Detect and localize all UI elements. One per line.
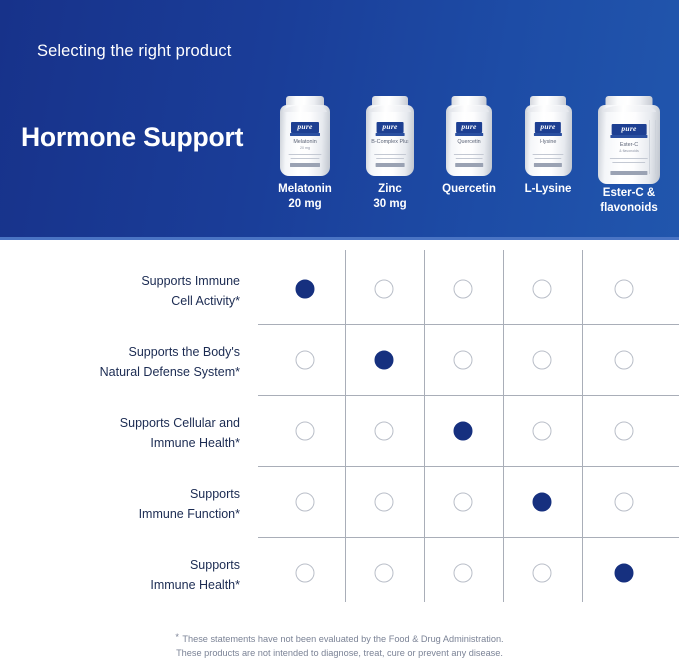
grid-horizontal-divider: [258, 395, 679, 396]
grid-vertical-divider: [424, 250, 425, 602]
brand-sublogo: [455, 133, 483, 136]
product-label-line1: Zinc: [378, 183, 402, 195]
product-label-line1: L-Lysine: [525, 183, 572, 195]
benefit-comparison-matrix: Supports Immune Cell Activity* Supports …: [0, 240, 679, 665]
bottle-side-panel: [649, 120, 656, 174]
brand-logo-zinc: pure: [377, 122, 404, 133]
benefit-label-4-line1: Supports: [190, 558, 240, 572]
product-label-line2: flavonoids: [600, 202, 658, 214]
matrix-dot-empty: [296, 422, 315, 441]
bottle-image-zinc: pure B-Complex Plus: [366, 96, 414, 176]
product-bottle-row: pure Melatonin 20 mg Melatonin 20 mg pur…: [258, 96, 679, 224]
bottle-product-dose-melatonin: 20 mg: [290, 146, 320, 150]
benefit-label-2: Supports Cellular and Immune Health*: [10, 413, 240, 453]
matrix-dot-empty: [615, 493, 634, 512]
bottle-image-quercetin: pure Quercetin: [446, 96, 492, 176]
product-label-line1: Quercetin: [442, 183, 496, 195]
grid-vertical-divider: [503, 250, 504, 602]
matrix-dot-empty: [454, 493, 473, 512]
bottle-shoulder: [602, 105, 657, 112]
matrix-dot-empty: [533, 351, 552, 370]
matrix-dot-empty: [375, 422, 394, 441]
benefit-label-4-line2: Immune Health*: [150, 578, 240, 592]
bottle-supplement-band-quercetin: [455, 163, 483, 168]
benefit-label-1: Supports the Body's Natural Defense Syst…: [10, 342, 240, 382]
brand-sublogo: [610, 135, 647, 138]
benefit-label-2-line1: Supports Cellular and: [120, 416, 240, 430]
product-label-line2: 30 mg: [373, 198, 406, 210]
matrix-dot-filled: [533, 493, 552, 512]
benefit-label-0-line1: Supports Immune: [141, 274, 240, 288]
product-label-ester-c: Ester-C & flavonoids: [574, 186, 679, 215]
legal-footnote: * These statements have not been evaluat…: [0, 632, 679, 660]
bottle-image-l-lysine: pure l-lysine: [525, 96, 572, 176]
matrix-dot-empty: [375, 493, 394, 512]
brand-logo-melatonin: pure: [291, 122, 319, 133]
footnote-line1: These statements have not been evaluated…: [182, 634, 503, 644]
bottle-product-name-ester-c: Ester-C: [605, 142, 653, 148]
product-label-line1: Ester-C &: [603, 187, 655, 199]
benefit-label-3-line1: Supports: [190, 487, 240, 501]
benefit-label-3-line2: Immune Function*: [139, 507, 240, 521]
matrix-dot-empty: [615, 351, 634, 370]
matrix-dot-empty: [296, 351, 315, 370]
benefit-label-0-line2: Cell Activity*: [171, 294, 240, 308]
matrix-dot-empty: [296, 493, 315, 512]
matrix-dot-empty: [533, 280, 552, 299]
hero-banner: Selecting the right product Hormone Supp…: [0, 0, 679, 240]
bottle-product-name-quercetin: Quercetin: [451, 139, 487, 145]
brand-logo-quercetin: pure: [456, 122, 482, 133]
footnote-line2: These products are not intended to diagn…: [176, 648, 503, 658]
grid-horizontal-divider: [258, 324, 679, 325]
matrix-grid: [258, 240, 679, 600]
bottle-supplement-band-melatonin: [290, 163, 320, 168]
bottle-product-dose-ester-c: & flavonoids: [610, 149, 647, 153]
benefit-label-4: Supports Immune Health*: [10, 555, 240, 595]
footnote-marker: *: [175, 632, 179, 642]
grid-vertical-divider: [582, 250, 583, 602]
matrix-dot-empty: [454, 351, 473, 370]
grid-vertical-divider: [345, 250, 346, 602]
bottle-supplement-band-ester-c: [610, 171, 647, 176]
bottle-shoulder: [283, 105, 327, 112]
matrix-dot-empty: [375, 280, 394, 299]
matrix-dot-empty: [454, 280, 473, 299]
benefit-label-1-line1: Supports the Body's: [129, 345, 240, 359]
matrix-dot-filled: [375, 351, 394, 370]
bottle-product-name-melatonin: Melatonin: [286, 139, 325, 145]
bottle-image-melatonin: pure Melatonin 20 mg: [280, 96, 330, 176]
bottle-supplement-band-l-lysine: [534, 163, 562, 168]
matrix-dot-empty: [533, 422, 552, 441]
matrix-dot-empty: [375, 564, 394, 583]
brand-sublogo: [534, 133, 562, 136]
grid-horizontal-divider: [258, 537, 679, 538]
brand-logo-ester-c: pure: [612, 124, 647, 135]
matrix-dot-filled: [296, 280, 315, 299]
matrix-dot-empty: [615, 280, 634, 299]
banner-eyebrow: Selecting the right product: [37, 42, 231, 61]
product-label-line1: Melatonin: [278, 183, 332, 195]
benefit-label-1-line2: Natural Defense System*: [100, 365, 240, 379]
matrix-dot-empty: [615, 422, 634, 441]
bottle-image-ester-c: pure Ester-C & flavonoids: [598, 96, 660, 184]
brand-logo-l-lysine: pure: [535, 122, 561, 133]
bottle-shoulder: [449, 105, 489, 112]
bottle-shoulder: [369, 105, 411, 112]
product-label-line2: 20 mg: [288, 198, 321, 210]
bottle-product-name-l-lysine: l-lysine: [530, 139, 567, 145]
bottle-supplement-band-zinc: [376, 163, 405, 168]
brand-sublogo: [376, 133, 405, 136]
benefit-label-0: Supports Immune Cell Activity*: [10, 271, 240, 311]
matrix-dot-empty: [296, 564, 315, 583]
matrix-dot-empty: [454, 564, 473, 583]
page-title: Hormone Support: [21, 122, 243, 153]
matrix-dot-empty: [533, 564, 552, 583]
benefit-label-3: Supports Immune Function*: [10, 484, 240, 524]
bottle-shoulder: [527, 105, 568, 112]
brand-sublogo: [290, 133, 320, 136]
benefit-label-2-line2: Immune Health*: [150, 436, 240, 450]
product-card-melatonin[interactable]: pure Melatonin 20 mg Melatonin 20 mg: [258, 96, 352, 176]
grid-horizontal-divider: [258, 466, 679, 467]
product-card-ester-c[interactable]: pure Ester-C & flavonoids Ester-C & flav…: [579, 96, 679, 184]
matrix-dot-filled: [615, 564, 634, 583]
matrix-dot-filled: [454, 422, 473, 441]
bottle-product-name-zinc: B-Complex Plus: [371, 139, 408, 145]
